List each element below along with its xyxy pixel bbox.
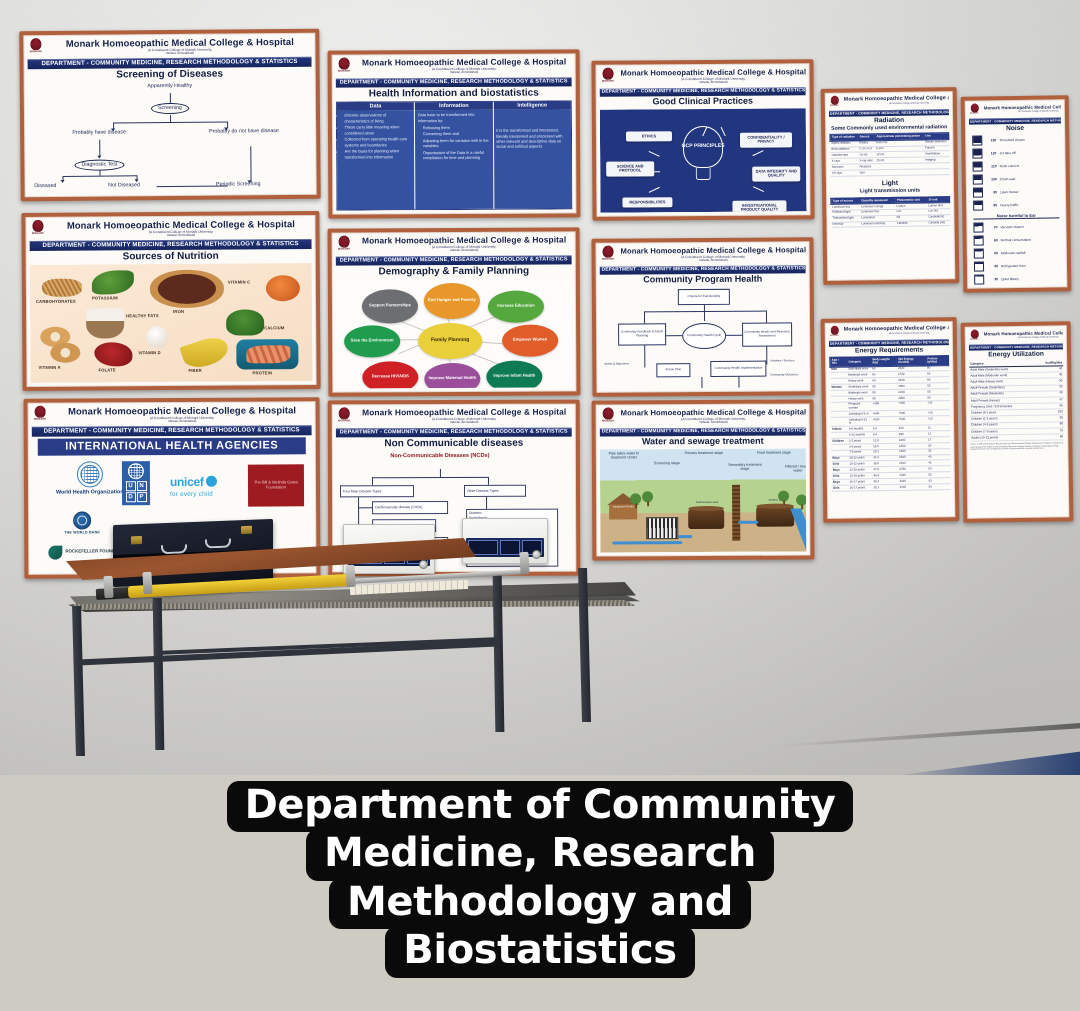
stage-screening: Screening stage bbox=[650, 461, 684, 465]
node-screening: Screening bbox=[151, 103, 189, 114]
unicef-tagline: for every child bbox=[170, 490, 217, 497]
poster-title: Energy Utilization bbox=[969, 350, 1063, 359]
list-item: Collected from operating health care sys… bbox=[345, 137, 412, 148]
unicef-wordmark: unicef bbox=[170, 475, 204, 489]
caption-line-3: Methodology and bbox=[329, 878, 751, 929]
secondary-treatment-tower-image bbox=[732, 484, 740, 540]
light-table: Type of source Quantity measured Photome… bbox=[830, 196, 950, 228]
oval-improve-infant-health: Improve Infant Health bbox=[486, 360, 542, 388]
label-healthy-fats: HEALTHY FATS bbox=[126, 314, 159, 319]
water-flow bbox=[738, 520, 758, 523]
tree-icon bbox=[778, 490, 789, 505]
monark-logo-icon: MONARK bbox=[336, 58, 353, 77]
poster-sources-of-nutrition[interactable]: MONARK Monark Homoeopathic Medical Colle… bbox=[21, 211, 320, 391]
poster-title: Non Communicable diseases bbox=[336, 437, 572, 449]
poster-title: Good Clinical Practices bbox=[600, 96, 806, 107]
table-rail bbox=[78, 640, 498, 665]
clamp-stand bbox=[519, 552, 529, 574]
label-sedimentation-tank: Sedimentation tank bbox=[686, 500, 728, 503]
affiliation-line-2: Vahelal, Ahmedabad) bbox=[621, 420, 807, 425]
monark-logo-icon: MONARK bbox=[336, 236, 353, 255]
tree-icon bbox=[642, 491, 653, 506]
tree-icon bbox=[630, 493, 641, 508]
monark-logo-icon: MONARK bbox=[599, 68, 616, 87]
poster-header: MONARK Monark Homoeopathic Medical Colle… bbox=[969, 102, 1061, 116]
col-header: Age / Sex bbox=[830, 357, 847, 367]
poster-title: Demography & Family Planning bbox=[336, 265, 572, 277]
gcp-center-label: GCP PRINCIPLES bbox=[682, 144, 725, 150]
stage-pipe-takes-water: Pipe takes water to treatment center bbox=[602, 451, 646, 460]
stage-final-treatment: Final treatment stage bbox=[756, 450, 792, 455]
monark-logo-icon: MONARK bbox=[829, 326, 840, 339]
food-spinach-image bbox=[92, 270, 134, 294]
level-bar-icon bbox=[974, 275, 984, 285]
poster-screening-of-diseases[interactable]: MONARK Monark Homoeopathic Medical Colle… bbox=[19, 29, 320, 202]
energy-utilization-footnote: Source: ICMR (2010) Nutrient Requirement… bbox=[970, 443, 1064, 451]
noise-level-row: 60 Normal conversation bbox=[974, 233, 1060, 247]
monark-logo-icon: MONARK bbox=[27, 38, 44, 57]
affiliation-line-2: Vahelal, Ahmedabad) bbox=[621, 80, 807, 85]
monark-logo-icon: MONARK bbox=[32, 406, 49, 425]
food-steak-image bbox=[150, 269, 224, 308]
noise-level-row: 100 Chain saw bbox=[973, 172, 1059, 186]
table-row: UV rays Sun bbox=[830, 169, 949, 177]
unicef-logo: unicef for every child bbox=[170, 472, 217, 497]
poster-title: Energy Requirements bbox=[829, 346, 949, 355]
water-treatment-illustration: Pipe takes water to treatment center Scr… bbox=[600, 448, 807, 552]
department-band: DEPARTMENT - COMMUNITY MEDICINE, RESEARC… bbox=[336, 427, 572, 437]
noise-harm-threshold-label: Noise harmful to Ear bbox=[973, 212, 1059, 219]
noise-level-row: 110 Rock concert bbox=[973, 159, 1059, 173]
noise-level-row: 50 Moderate rainfall bbox=[974, 246, 1060, 260]
food-orange-image bbox=[266, 275, 300, 301]
table-leg bbox=[72, 606, 85, 756]
affiliation-line-2: Vahelal, Ahmedabad) bbox=[621, 258, 807, 263]
department-band: DEPARTMENT - COMMUNITY MEDICINE, RESEARC… bbox=[336, 77, 572, 87]
poster-header: MONARK Monark Homoeopathic Medical Colle… bbox=[969, 328, 1063, 342]
noise-level-row: 120 Jet take off bbox=[972, 146, 1058, 160]
clamp-stand bbox=[345, 565, 355, 587]
undp-logo: UNDP bbox=[122, 461, 150, 505]
gcp-box-ethics: ETHICS bbox=[626, 131, 672, 142]
energy-utilization-rows: Adult Male (Sedentary work)40Adult Male … bbox=[969, 366, 1064, 442]
level-bar-icon bbox=[972, 136, 982, 146]
label-vitamin-a: VITAMIN A bbox=[38, 364, 60, 369]
monark-logo-icon: MONARK bbox=[599, 246, 616, 265]
section-subtitle-light: Light transmission units bbox=[830, 188, 950, 196]
who-label: World Health Organization bbox=[56, 489, 124, 496]
caption-line-1: Department of Community bbox=[227, 781, 854, 832]
caption-banner: Department of Community Medicine, Resear… bbox=[0, 775, 1080, 1011]
poster-header: MONARK Monark Homoeopathic Medical Colle… bbox=[599, 244, 805, 264]
poster-good-clinical-practices[interactable]: MONARK Monark Homoeopathic Medical Colle… bbox=[591, 59, 814, 221]
level-bar-icon bbox=[973, 175, 983, 185]
label-potassium: POTASSIUM bbox=[92, 295, 118, 300]
label-iron: IRON bbox=[173, 309, 184, 314]
table-leg bbox=[153, 598, 165, 750]
ncd-item-cvd: Cardiovascular disease (CVDs) bbox=[372, 501, 448, 514]
list-item: Discrete observations of characteristics… bbox=[344, 113, 411, 124]
poster-header: MONARK Monark Homoeopathic Medical Colle… bbox=[336, 234, 572, 254]
aeration-tank-image bbox=[756, 506, 794, 526]
list-item: Releasing them bbox=[423, 124, 490, 130]
list-item: It is the transformed and interpreted, l… bbox=[496, 128, 568, 149]
wall-skirting bbox=[780, 717, 1080, 747]
gates-foundation-label: The Bill & Melinda Gates Foundation bbox=[248, 480, 304, 490]
nutrition-diagram: CARBOHYDRATES POTASSIUM HEALTHY FATS IRO… bbox=[30, 263, 313, 383]
caption-line-4: Biostatistics bbox=[385, 926, 694, 977]
label-carbohydrates: CARBOHYDRATES bbox=[36, 298, 76, 303]
poster-title: Community Program Health bbox=[600, 274, 806, 285]
food-banana-image bbox=[179, 333, 231, 372]
node-apparently-healthy: Apparently Healthy bbox=[147, 83, 192, 89]
node-community-health-cycle: Community Health Cycle bbox=[682, 322, 726, 348]
level-bar-icon bbox=[972, 149, 982, 159]
stage-filtered-water: Filtered / treated water bbox=[782, 464, 806, 473]
poster-header: MONARK Monark Homoeopathic Medical Colle… bbox=[32, 404, 312, 424]
node-community-health-implementation: Community Health Implementation bbox=[710, 360, 766, 376]
department-band: DEPARTMENT - COMMUNITY MEDICINE, RESEARC… bbox=[32, 425, 312, 437]
level-bar-icon bbox=[973, 188, 983, 198]
food-yogurt-image bbox=[86, 308, 124, 338]
poster-title: Sources of Nutrition bbox=[30, 250, 312, 263]
ncd-root: Non-Communicable Diseases (NCDs) bbox=[380, 453, 500, 460]
affiliation-line-2: Vahelal, Ahmedabad) bbox=[357, 70, 572, 75]
label-calcium: CALCIUM bbox=[264, 325, 284, 330]
department-band: DEPARTMENT - COMMUNITY MEDICINE, RESEARC… bbox=[30, 239, 312, 251]
poster-energy-utilization[interactable]: MONARK Monark Homoeopathic Medical Colle… bbox=[961, 321, 1074, 523]
affiliation-line-2: Vahelal, Ahmedabad) bbox=[357, 248, 572, 253]
college-name: Monark Homoeopathic Medical College & Ho… bbox=[357, 408, 572, 418]
poster-header: MONARK Monark Homoeopathic Medical Colle… bbox=[599, 66, 805, 86]
college-name: Monark Homoeopathic Medical College & Ho… bbox=[621, 68, 807, 77]
gcp-box-responsibilities: RESPONSIBILITIES bbox=[622, 197, 672, 208]
oval-support-partnerships: Support Partnerships bbox=[362, 289, 418, 323]
tree-icon bbox=[796, 494, 806, 509]
affiliation-line-2: Vahelal, Ahmedabad) bbox=[357, 421, 572, 426]
table-column-intelligence: Intelligence It is the transformed and i… bbox=[493, 101, 571, 209]
poster-header: MONARK Monark Homoeopathic Medical Colle… bbox=[829, 324, 949, 339]
noise-scale: 130 Threshold of pain 120 Jet take off 1… bbox=[969, 133, 1063, 284]
clamp-stand bbox=[142, 572, 152, 594]
department-band: DEPARTMENT - COMMUNITY MEDICINE, RESEARC… bbox=[600, 87, 806, 97]
food-broccoli-image bbox=[226, 309, 264, 335]
poster-health-information-and-biostatistics[interactable]: MONARK Monark Homoeopathic Medical Colle… bbox=[328, 49, 581, 218]
college-name: Monark Homoeopathic Medical College & Ho… bbox=[621, 408, 807, 417]
college-name: Monark Homoeopathic Medical College & Ho… bbox=[53, 405, 312, 416]
node-periodic-screening: Periodic Screening bbox=[216, 182, 261, 188]
level-bar-icon bbox=[973, 201, 983, 211]
table-column-information: Information Data have to be transformed … bbox=[415, 101, 494, 209]
label-community-outcomes: Community Outcomes bbox=[770, 372, 806, 376]
poster-header: MONARK Monark Homoeopathic Medical Colle… bbox=[29, 218, 311, 239]
stage-secondary-treatment: Secondary treatment stage bbox=[724, 462, 766, 471]
department-band: DEPARTMENT - COMMUNITY MEDICINE, RESEARC… bbox=[600, 427, 806, 436]
node-community-feedback: Community Feedback & Action Planning bbox=[618, 323, 666, 345]
oval-improve-maternal-health: Improve Maternal Health bbox=[424, 363, 480, 389]
list-item: Adjusting them for variation with in the… bbox=[423, 138, 490, 149]
col-header: Body weight (kg) bbox=[870, 356, 896, 366]
col-header: Net Energy (Kcal/d) bbox=[896, 356, 925, 366]
section-title-light: Light bbox=[830, 179, 950, 188]
col-header: Category bbox=[846, 357, 870, 367]
oval-end-hunger-poverty: End Hunger and Poverty bbox=[424, 283, 480, 319]
table-row: Girls16-17 years52.1244056 bbox=[831, 484, 950, 492]
list-item: Are the basis for planning when transfor… bbox=[345, 148, 412, 159]
screening-grid-image bbox=[646, 517, 678, 539]
food-egg-image bbox=[146, 326, 168, 348]
world-bank-logo: THE WORLD BANK bbox=[64, 511, 100, 534]
monark-logo-icon: MONARK bbox=[969, 103, 980, 116]
list-item: These carry little meaning when consider… bbox=[344, 125, 411, 136]
gates-foundation-logo: The Bill & Melinda Gates Foundation bbox=[248, 464, 304, 506]
undp-globe-icon bbox=[128, 463, 144, 479]
gcp-box-product-quality: INVESTIGATIONAL PRODUCT QUALITY bbox=[732, 200, 786, 213]
node-diagnostic-test: Diagnostic Test bbox=[74, 159, 124, 170]
primary-sedimentation-tank-image bbox=[688, 508, 724, 528]
monark-logo-icon: MONARK bbox=[969, 330, 980, 343]
label-vitamin-d: VITAMIN D bbox=[138, 350, 160, 355]
oval-family-planning-center: Family Planning bbox=[418, 323, 482, 359]
level-bar-icon bbox=[973, 162, 983, 172]
monark-logo-icon: MONARK bbox=[29, 220, 46, 239]
section-subtitle-radiation: Some Commonly used environmental radiati… bbox=[829, 125, 949, 133]
poster-title: Noise bbox=[969, 124, 1061, 133]
oval-empower-women: Empower Women bbox=[502, 324, 558, 356]
label-activities-services: Activities / Services bbox=[770, 358, 806, 362]
poster-demography-and-family-planning[interactable]: MONARK Monark Homoeopathic Medical Colle… bbox=[328, 227, 581, 396]
undp-letters: UNDP bbox=[125, 481, 146, 502]
noise-level-row: 90 Lawn mower bbox=[973, 185, 1059, 199]
level-bar-icon bbox=[974, 249, 984, 259]
label-fiber: FIBER bbox=[188, 367, 201, 372]
ncd-left-branch: Four Main Disease Types bbox=[340, 485, 414, 497]
monark-logo-icon: MONARK bbox=[600, 407, 617, 426]
energy-requirements-table: Age / Sex Category Body weight (kg) Net … bbox=[829, 355, 951, 491]
noise-level-row: 70 Vacuum cleaner bbox=[973, 220, 1059, 234]
water-flow bbox=[678, 535, 692, 538]
gcp-box-confidentiality: CONFIDENTIALITY / PRIVACY bbox=[740, 132, 792, 148]
list-item: Converting them and bbox=[423, 131, 490, 137]
label-vitamin-c: VITAMIN C bbox=[228, 279, 250, 284]
label-needs-objectives: Needs & Objectives bbox=[604, 361, 629, 365]
poster-radiation-and-light[interactable]: MONARK Monark Homoeopathic Medical Colle… bbox=[821, 87, 960, 285]
noise-level-row: 30 Quiet library bbox=[974, 272, 1060, 284]
poster-energy-requirements[interactable]: MONARK Monark Homoeopathic Medical Colle… bbox=[821, 317, 960, 523]
oval-decrease-hiv-aids: Decrease HIV/AIDS bbox=[362, 361, 418, 389]
radiation-table: Type of radiation Source Approximate pen… bbox=[829, 133, 950, 177]
monark-logo-icon: MONARK bbox=[829, 96, 840, 109]
table-column-data: Data Discrete observations of characteri… bbox=[337, 102, 416, 210]
department-band: DEPARTMENT - COMMUNITY MEDICINE, RESEARC… bbox=[969, 117, 1061, 124]
gcp-box-data-integrity: DATA INTEGRITY AND QUALITY bbox=[752, 166, 800, 182]
unicef-badge-icon bbox=[205, 475, 216, 486]
list-item: Organisation of the Data in a useful com… bbox=[423, 150, 490, 161]
level-bar-icon bbox=[974, 236, 984, 246]
noise-level-row: 85 Heavy traffic bbox=[973, 198, 1059, 212]
biostatistics-table: Data Discrete observations of characteri… bbox=[336, 100, 573, 211]
poster-header: MONARK Monark Homoeopathic Medical Colle… bbox=[600, 406, 806, 426]
screening-flowchart: Apparently Healthy Screening Probably ha… bbox=[28, 80, 313, 193]
node-diseased: Diseased bbox=[34, 184, 56, 190]
node-needs-resource-assessment: Community Needs and Resource Assessment bbox=[742, 322, 792, 346]
food-bagel-image-2 bbox=[50, 342, 80, 362]
instrument-box-2 bbox=[462, 518, 548, 564]
node-criteria-functionality: Criteria for Functionality bbox=[678, 288, 730, 304]
poster-water-and-sewage-treatment[interactable]: MONARK Monark Homoeopathic Medical Colle… bbox=[592, 399, 815, 560]
poster-title: Health Information and biostatistics bbox=[336, 87, 572, 99]
college-name: Monark Homoeopathic Medical College & Ho… bbox=[621, 246, 807, 255]
apparatus-dark-section bbox=[96, 587, 133, 600]
node-probably-no-disease: Probably do not have disease bbox=[187, 129, 301, 136]
col-header: Protein (g/day) bbox=[925, 356, 948, 366]
ncd-right-branch: Other Disease Types bbox=[464, 484, 526, 496]
stage-primary-treatment: Primary treatment stage bbox=[684, 450, 724, 455]
rockefeller-mark-icon bbox=[48, 545, 62, 559]
table-row: Intensity Luminous intensity Candela Can… bbox=[831, 220, 950, 228]
node-not-diseased: Not Diseased bbox=[108, 183, 140, 189]
poster-header: MONARK Monark Homoeopathic Medical Colle… bbox=[829, 94, 949, 109]
food-salmon-fillets bbox=[246, 345, 290, 363]
clamp-stand bbox=[103, 576, 113, 598]
noise-level-row: 40 Refrigerator hum bbox=[974, 259, 1060, 273]
level-bar-icon bbox=[973, 223, 983, 233]
community-health-flowchart: Criteria for Functionality Community Fee… bbox=[600, 286, 807, 389]
water-flow bbox=[612, 541, 682, 544]
food-grains-image bbox=[42, 278, 82, 296]
caption-line-2: Medicine, Research bbox=[306, 829, 774, 880]
label-protein: PROTEIN bbox=[252, 370, 272, 375]
oval-increase-education: Increase Education bbox=[488, 290, 544, 322]
family-planning-diagram: Support Partnerships End Hunger and Pove… bbox=[336, 278, 573, 389]
list-item: Data have to be transformed into informa… bbox=[418, 112, 490, 123]
affiliation-line-2: Vahelal, Ahmedabad) bbox=[51, 233, 312, 239]
photo-scene: MONARK Monark Homoeopathic Medical Colle… bbox=[0, 0, 1080, 1011]
label-aeration-tank: Aeration tank bbox=[754, 498, 798, 501]
who-logo: World Health Organization bbox=[56, 461, 124, 496]
noise-level-row: 130 Threshold of pain bbox=[972, 133, 1058, 147]
gcp-diagram: GCP PRINCIPLES ETHICS SCIENCE AND PROTOC… bbox=[600, 108, 807, 213]
gcp-box-science-protocol: SCIENCE AND PROTOCOL bbox=[606, 161, 654, 177]
department-band: DEPARTMENT - COMMUNITY MEDICINE, RESEARC… bbox=[969, 343, 1063, 350]
oval-save-environment: Save the Environment bbox=[344, 325, 400, 357]
who-globe-icon bbox=[77, 461, 103, 487]
world-bank-label: THE WORLD BANK bbox=[64, 530, 100, 534]
node-action-plan: Action Plan bbox=[656, 363, 690, 377]
poster-title: INTERNATIONAL HEALTH AGENCIES bbox=[38, 437, 306, 455]
poster-header: MONARK Monark Homoeopathic Medical Colle… bbox=[336, 407, 572, 427]
department-band: DEPARTMENT - COMMUNITY MEDICINE, RESEARC… bbox=[336, 255, 572, 265]
monark-logo-icon: MONARK bbox=[336, 407, 353, 426]
world-bank-globe-icon bbox=[73, 511, 91, 529]
table-row: Adults (10-12 years)60 bbox=[970, 434, 1064, 441]
food-beans-image bbox=[94, 342, 132, 366]
label-folate: FOLATE bbox=[98, 367, 115, 372]
poster-title: Screening of Diseases bbox=[28, 67, 312, 80]
department-band: DEPARTMENT - COMMUNITY MEDICINE, RESEARC… bbox=[600, 265, 806, 275]
affiliation-line-2: Vahelal, Ahmedabad) bbox=[53, 419, 312, 424]
poster-title: Water and sewage treatment bbox=[600, 436, 806, 447]
level-bar-icon bbox=[974, 262, 984, 272]
node-probably-have-disease: Probably have disease bbox=[45, 130, 153, 137]
college-name: Monark Homoeopathic Medical College & Ho… bbox=[48, 36, 311, 48]
poster-community-program-health[interactable]: MONARK Monark Homoeopathic Medical Colle… bbox=[591, 237, 814, 397]
poster-header: MONARK Monark Homoeopathic Medical Colle… bbox=[27, 36, 311, 57]
college-name: Monark Homoeopathic Medical College & Ho… bbox=[50, 219, 311, 231]
poster-header: MONARK Monark Homoeopathic Medical Colle… bbox=[336, 56, 572, 76]
poster-noise-levels[interactable]: MONARK Monark Homoeopathic Medical Colle… bbox=[961, 95, 1072, 292]
